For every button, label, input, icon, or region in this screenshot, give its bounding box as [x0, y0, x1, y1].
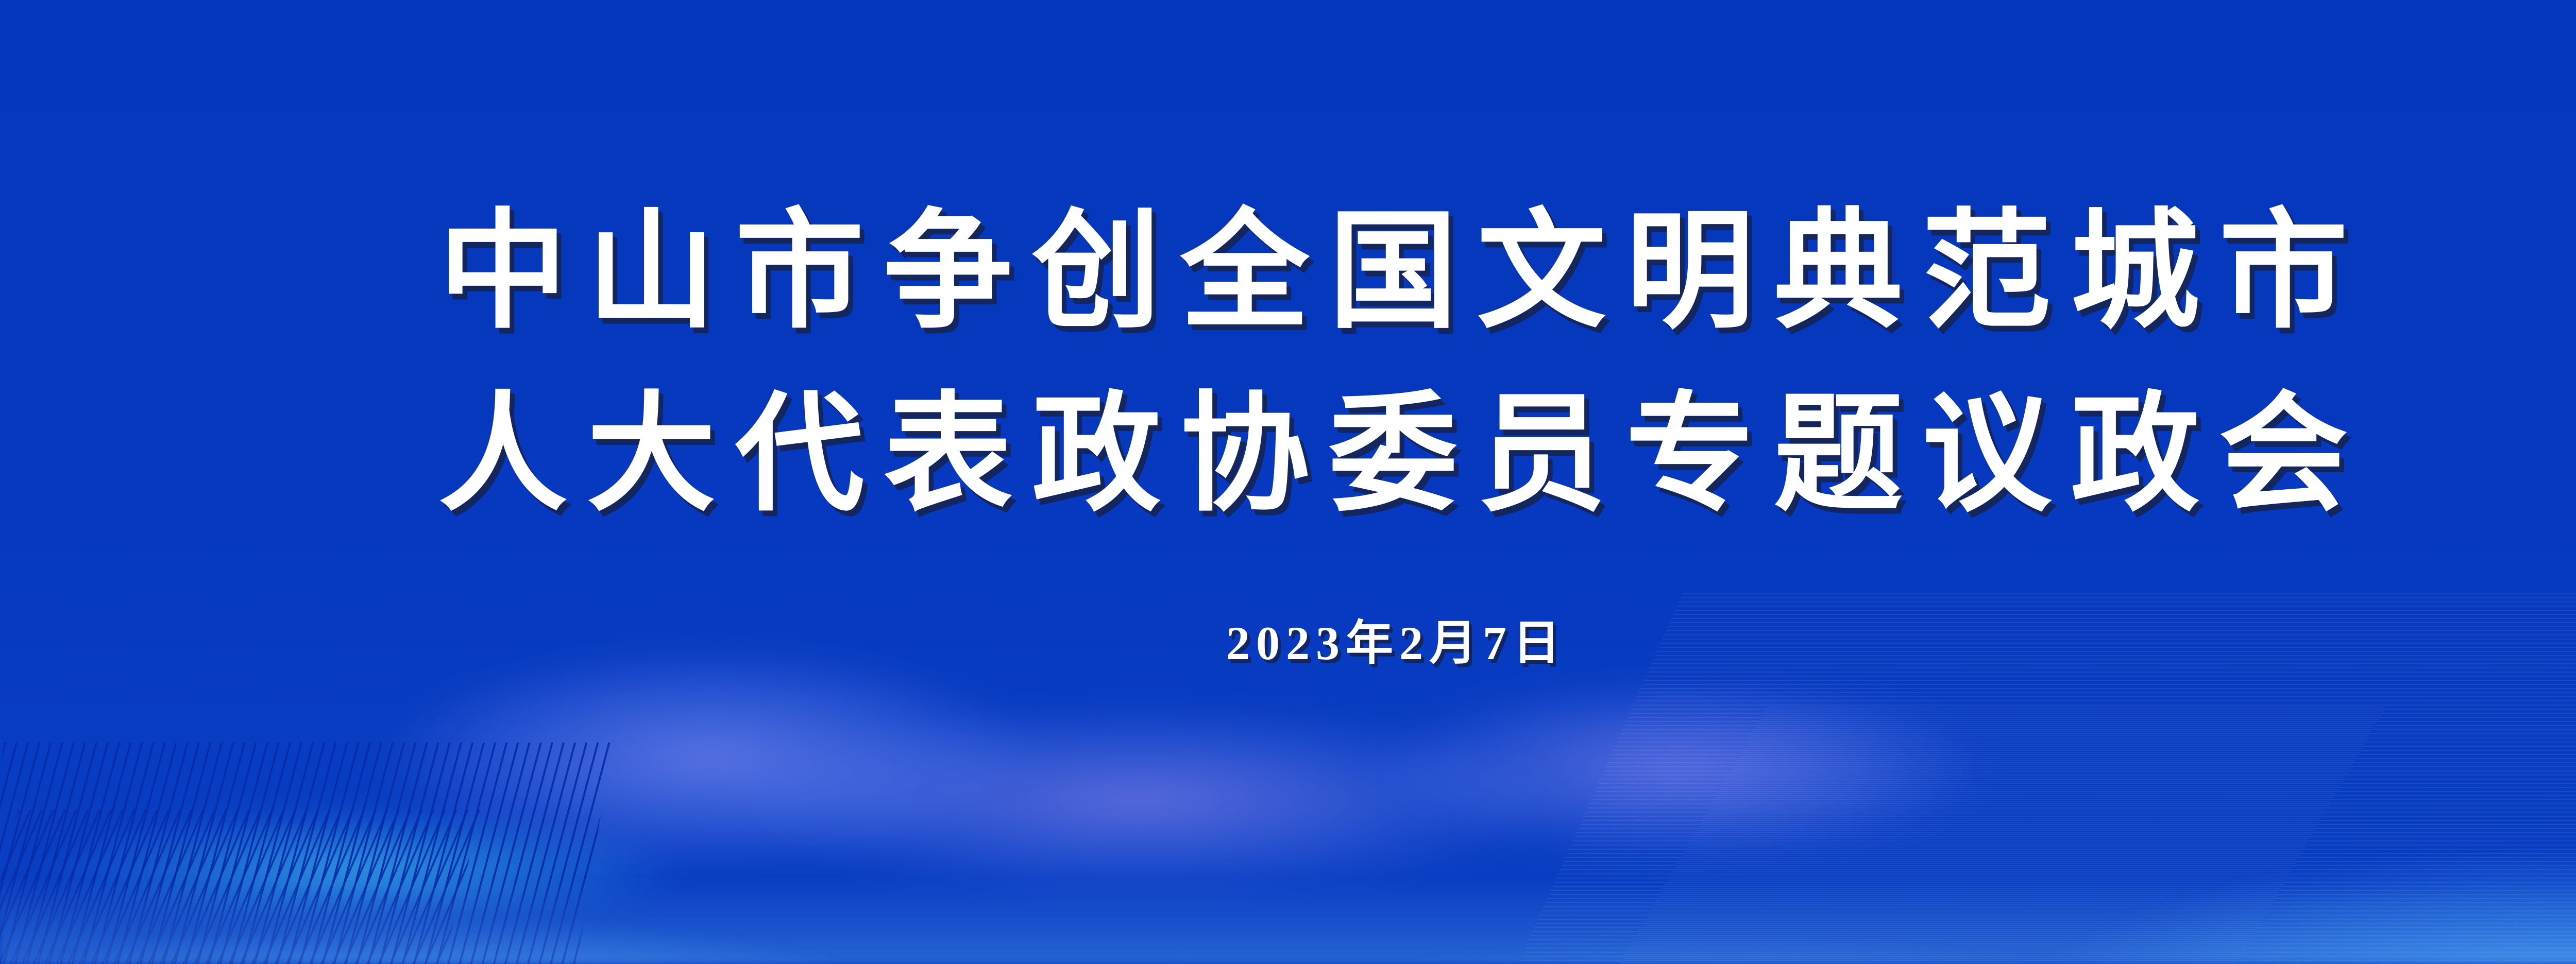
- banner-content: 中山市争创全国文明典范城市 人大代表政协委员专题议政会 2023年2月7日: [0, 0, 2576, 964]
- title-line-1: 中山市争创全国文明典范城市: [419, 181, 2367, 364]
- event-date: 2023年2月7日: [1220, 605, 1566, 673]
- banner-title: 中山市争创全国文明典范城市 人大代表政协委员专题议政会: [419, 181, 2367, 547]
- title-line-2: 人大代表政协委员专题议政会: [419, 364, 2367, 547]
- event-banner: 中山市争创全国文明典范城市 人大代表政协委员专题议政会 2023年2月7日: [0, 0, 2576, 964]
